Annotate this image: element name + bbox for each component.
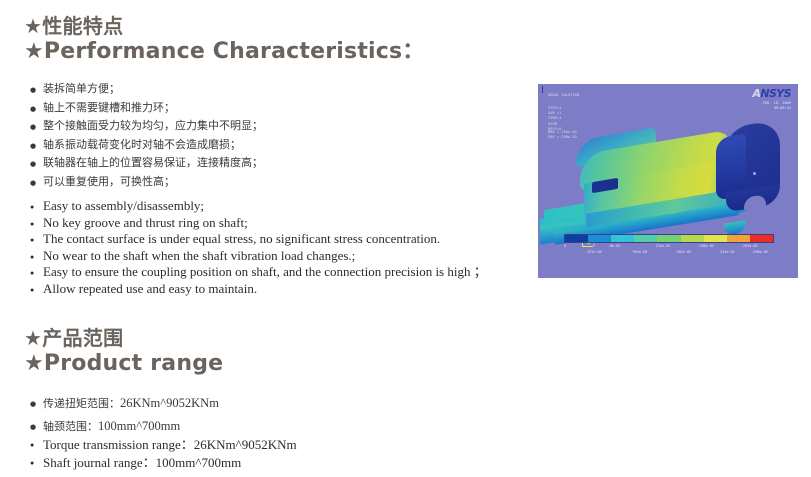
list-item: 联轴器在轴上的位置容易保证，连接精度高； [30, 154, 263, 173]
list-item: 装拆简单方便； [30, 80, 263, 99]
legend-tick: .231e-02 [718, 250, 735, 254]
performance-heading-group: ★性能特点 ★Performance Characteristics： [24, 14, 425, 66]
list-item: 传递扭矩范围：26KNm^9052KNm [30, 392, 219, 415]
list-item: 轴系振动载荷变化时对轴不会造成磨损； [30, 136, 263, 155]
list-item: Easy to assembly/disassembly; [30, 198, 487, 215]
list-item: Allow repeated use and easy to maintain. [30, 281, 487, 298]
legend-tick: .132e-02 [653, 244, 670, 248]
performance-bullets-en: Easy to assembly/disassembly; No key gro… [30, 198, 487, 297]
legend-tick: .198e-02 [697, 244, 714, 248]
legend-tick: .331e-03 [585, 250, 602, 254]
spec-value: 26KNm^9052KNm [120, 396, 219, 410]
product-range-specs-en: Torque transmission range：26KNm^9052KNm … [30, 436, 297, 472]
list-item: The contact surface is under equal stres… [30, 231, 487, 248]
list-item: No key groove and thrust ring on shaft; [30, 215, 487, 232]
ansys-fea-figure: NODAL SOLUTION STEP=1 SUB =1 TIME=1 USUM… [538, 84, 798, 278]
product-range-heading-cn: ★产品范围 [24, 326, 223, 350]
product-range-heading-group: ★产品范围 ★Product range [24, 326, 223, 378]
product-range-heading-en: ★Product range [24, 350, 223, 378]
page-root: ★性能特点 ★Performance Characteristics： 装拆简单… [0, 0, 811, 477]
list-item: 轴上不需要键槽和推力环； [30, 99, 263, 118]
stress-color-legend: 0 .8e-03 .132e-02 .198e-02 .263e-02 .331… [564, 234, 772, 256]
list-item: No wear to the shaft when the shaft vibr… [30, 248, 487, 265]
spec-value: 100mm^700mm [98, 419, 180, 433]
list-item: Shaft journal range：100mm^700mm [30, 454, 297, 472]
legend-tick: .165e-02 [674, 250, 691, 254]
legend-tick: .994e-03 [631, 250, 648, 254]
spec-label: 轴颈范围： [43, 420, 98, 433]
legend-tick-labels: 0 .8e-03 .132e-02 .198e-02 .263e-02 .331… [564, 244, 772, 256]
list-item: 轴颈范围：100mm^700mm [30, 415, 219, 438]
legend-tick: .8e-03 [608, 244, 621, 248]
list-item: Torque transmission range：26KNm^9052KNm [30, 436, 297, 454]
legend-tick: .296e-02 [751, 250, 768, 254]
performance-heading-en: ★Performance Characteristics： [24, 38, 425, 66]
list-item: Easy to ensure the coupling position on … [30, 264, 487, 281]
list-item: 整个接触面受力较为均匀，应力集中不明显； [30, 117, 263, 136]
model-end-hub-marker [753, 172, 756, 175]
legend-tick: 0 [564, 244, 566, 248]
legend-tick: .263e-02 [741, 244, 758, 248]
product-range-specs-cn: 传递扭矩范围：26KNm^9052KNm 轴颈范围：100mm^700mm [30, 392, 219, 438]
performance-bullets-cn: 装拆简单方便； 轴上不需要键槽和推力环； 整个接触面受力较为均匀，应力集中不明显… [30, 80, 263, 191]
legend-color-bar [564, 234, 774, 243]
performance-heading-cn: ★性能特点 [24, 14, 425, 38]
list-item: 可以重复使用，可换性高； [30, 173, 263, 192]
spec-label: 传递扭矩范围： [43, 397, 120, 410]
